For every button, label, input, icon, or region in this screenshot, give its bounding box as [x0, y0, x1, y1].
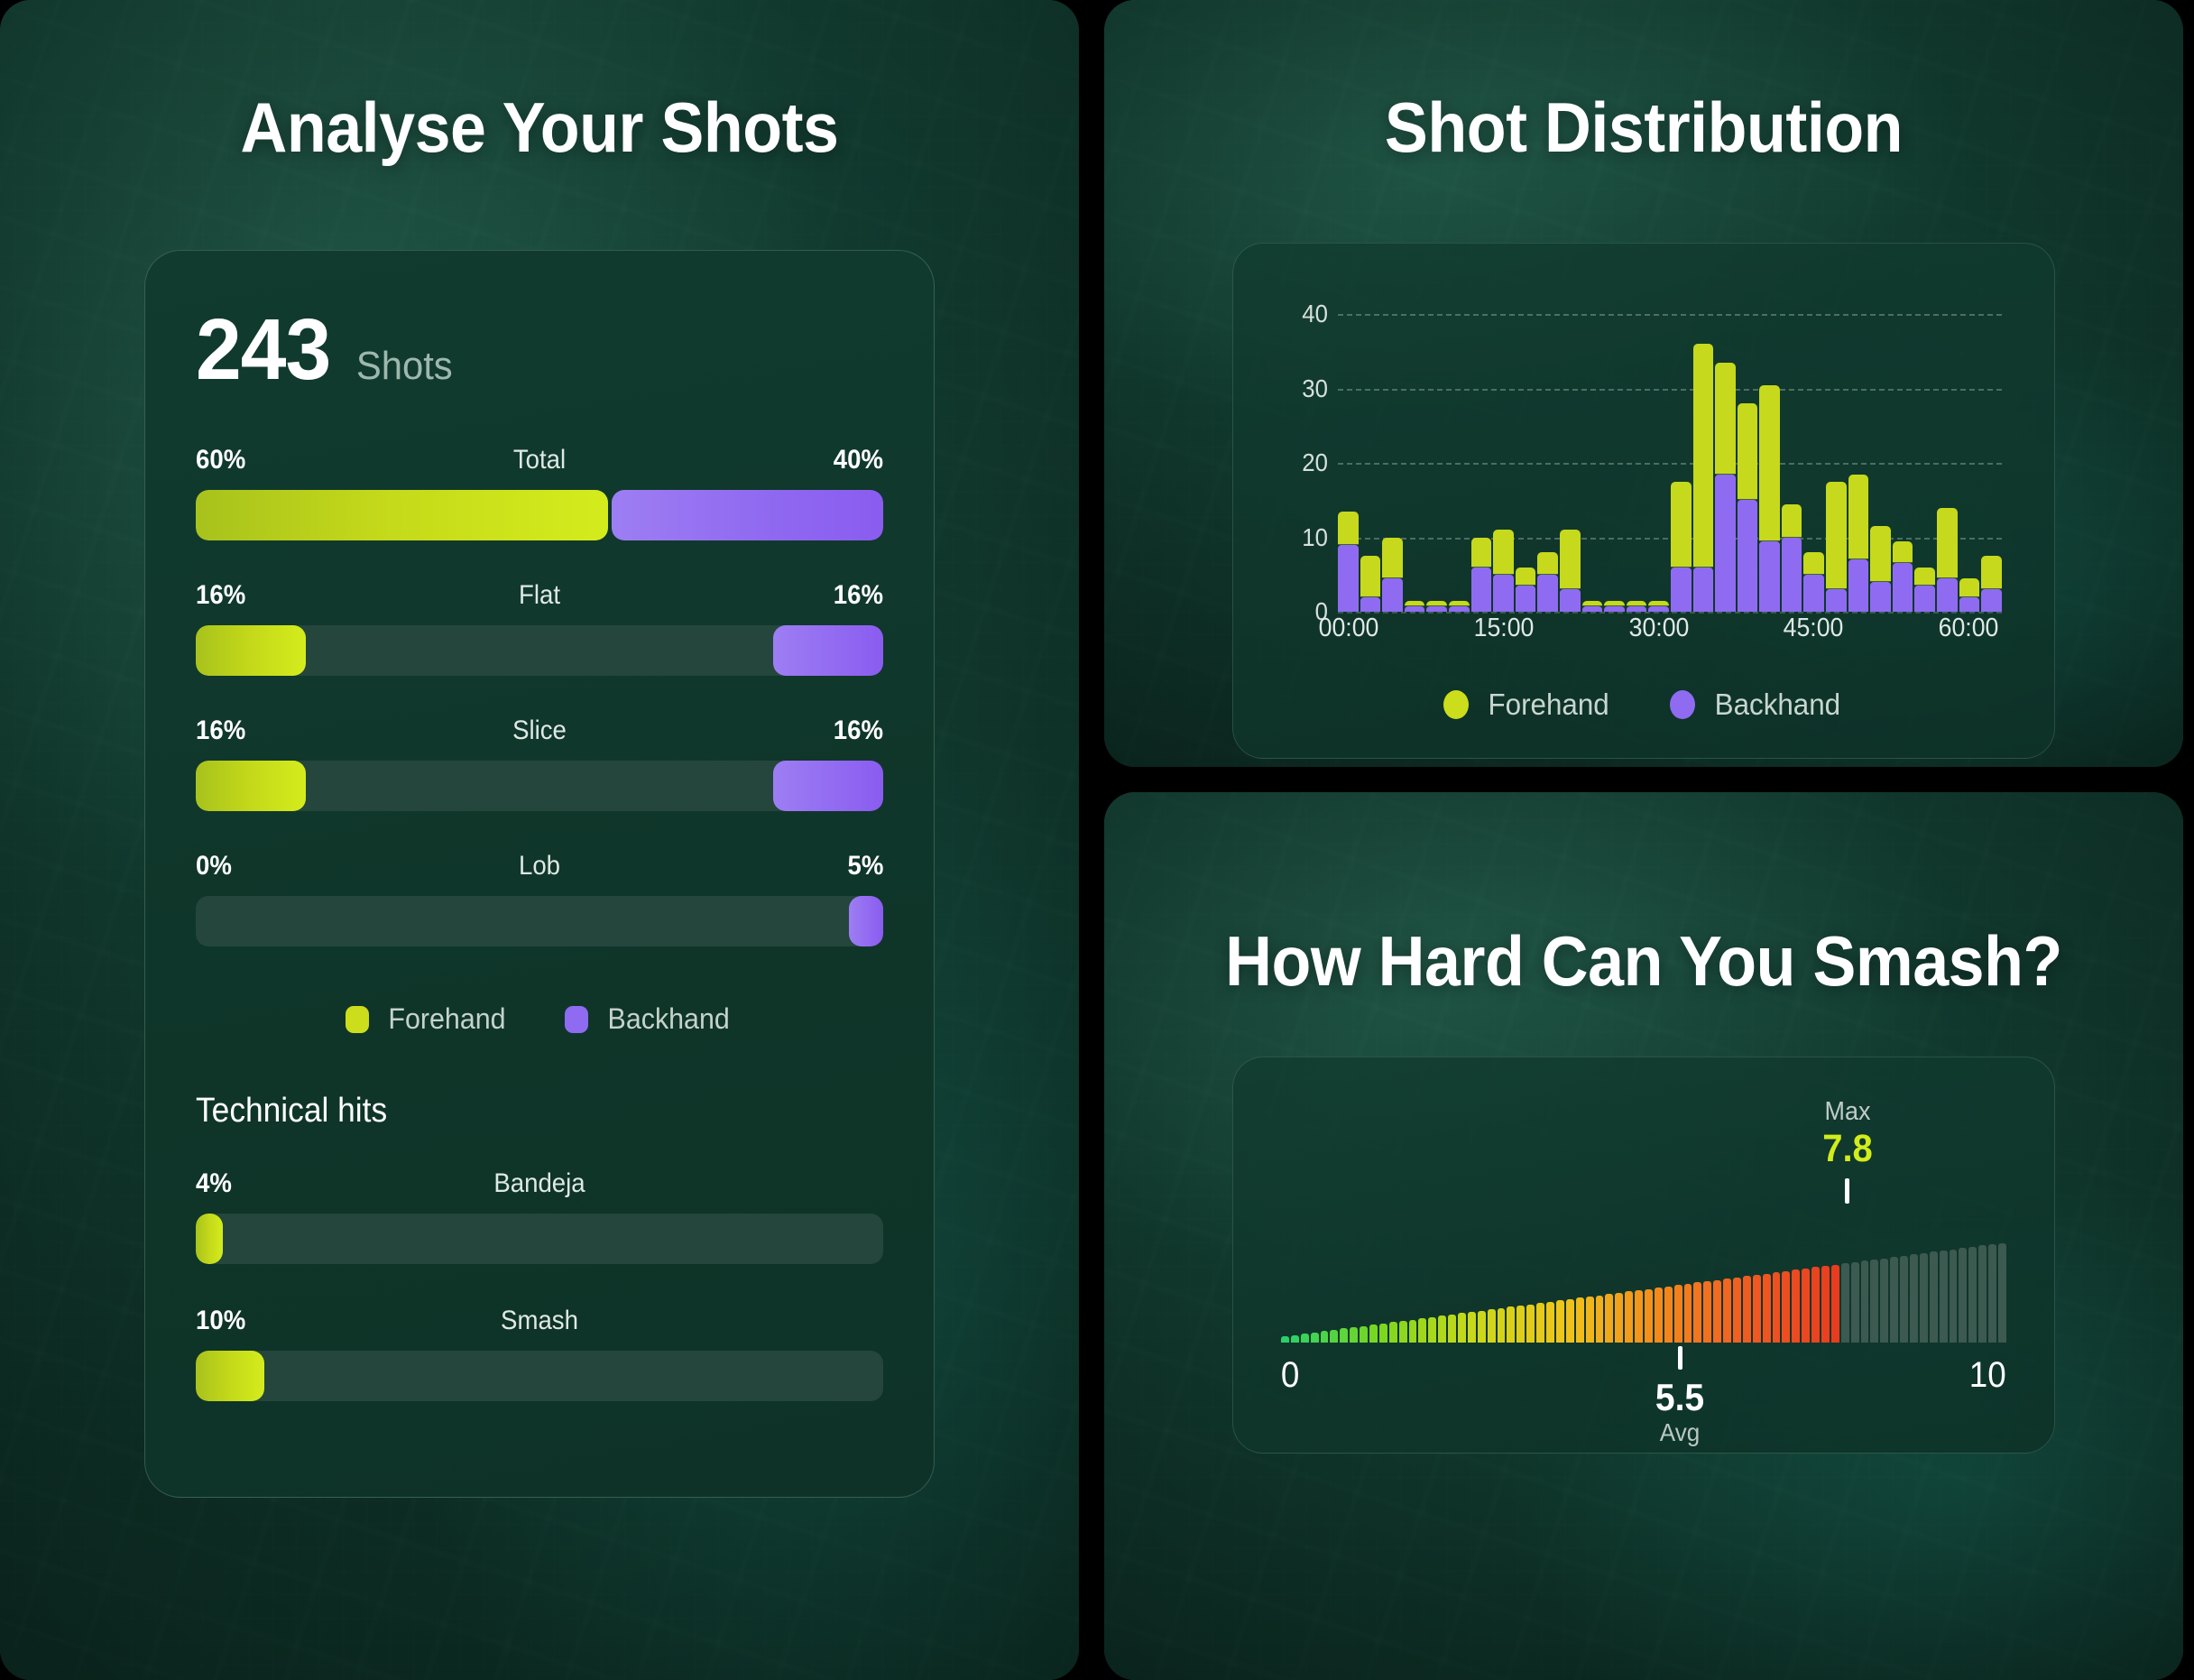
smash-power-panel: How Hard Can You Smash? Max 7.8 0 10: [1104, 792, 2183, 1680]
avg-caption: Avg: [1596, 1418, 1764, 1447]
chart-x-axis: 00:0015:0030:0045:0060:00: [1338, 615, 2002, 660]
chart-bar-column: [1981, 300, 2002, 612]
legend-label: Forehand: [1489, 688, 1609, 722]
gauge-tick: [1968, 1247, 1977, 1343]
forehand-dot-icon: [1443, 690, 1469, 719]
backhand-bar-segment: [1893, 563, 1913, 612]
chart-bar-column: [1937, 300, 1958, 612]
shots-summary-card: 243 Shots 60% Total 40%: [144, 250, 935, 1498]
gauge-tick: [1516, 1306, 1525, 1343]
legend-item-forehand: Forehand: [1443, 688, 1612, 722]
gauge-tick: [1880, 1259, 1888, 1343]
chart-bar-column: [1870, 300, 1891, 612]
backhand-bar-segment: [1738, 500, 1758, 612]
gauge-tick: [1389, 1322, 1397, 1342]
shot-bar-slice-track[interactable]: [196, 761, 883, 811]
backhand-bar-segment: [1981, 589, 2002, 612]
smash-gauge[interactable]: Max 7.8 0 10 5.5 Avg: [1280, 1097, 2007, 1406]
gauge-tick: [1360, 1326, 1368, 1343]
gauge-tick: [1478, 1311, 1486, 1343]
backhand-bar-segment: [1471, 568, 1492, 612]
forehand-bar-segment: [1671, 482, 1692, 568]
gauge-tick: [1950, 1250, 1958, 1343]
chart-bars: [1338, 300, 2002, 612]
technical-bar-bandeja: 4% Bandeja: [196, 1167, 883, 1264]
backhand-bar-segment: [1516, 586, 1536, 612]
backhand-dot-icon: [1670, 690, 1695, 719]
shot-bar-total: 60% Total 40%: [196, 443, 883, 540]
forehand-bar-segment: [1759, 385, 1780, 541]
shot-bar-lob-header: 0% Lob 5%: [196, 849, 883, 883]
chart-bar-column: [1560, 300, 1581, 612]
gauge-tick: [1743, 1276, 1751, 1342]
gauge-tick: [1438, 1315, 1446, 1342]
forehand-bar-segment: [1715, 363, 1736, 475]
page-title-distribution: Shot Distribution: [1148, 0, 2140, 169]
gauge-tick: [1379, 1324, 1387, 1343]
gauge-tick: [1311, 1333, 1319, 1343]
forehand-fill: [196, 761, 306, 811]
shot-bar-flat: 16% Flat 16%: [196, 578, 883, 676]
gauge-tick: [1586, 1297, 1594, 1343]
shots-legend: Forehand Backhand: [196, 1002, 883, 1036]
forehand-bar-segment: [1338, 512, 1359, 545]
gauge-tick: [1782, 1271, 1790, 1343]
backhand-swatch-icon: [565, 1006, 588, 1033]
backhand-bar-segment: [1627, 606, 1647, 612]
scale-max-label: 10: [1968, 1357, 2005, 1393]
gauge-tick: [1920, 1253, 1928, 1343]
backhand-bar-segment: [1648, 606, 1669, 612]
shot-bar-label: Lob: [519, 849, 560, 883]
gauge-tick: [1988, 1244, 1996, 1343]
backhand-bar-segment: [1959, 597, 1980, 612]
gauge-tick: [1733, 1278, 1741, 1343]
backhand-bar-segment: [1759, 541, 1780, 612]
gauge-tick: [1910, 1254, 1918, 1342]
gauge-tick: [1664, 1287, 1673, 1343]
gauge-tick: [1998, 1243, 2006, 1343]
chart-bar-column: [1627, 300, 1647, 612]
forehand-bar-segment: [1560, 530, 1581, 589]
backhand-bar-segment: [1537, 575, 1558, 612]
technical-label: Bandeja: [493, 1167, 585, 1201]
y-tick-label: 20: [1302, 450, 1328, 475]
chart-legend: Forehand Backhand: [1269, 688, 2018, 731]
shot-bar-label: Flat: [519, 578, 560, 613]
technical-hits-heading: Technical hits: [196, 1092, 835, 1131]
gauge-tick: [1458, 1313, 1466, 1342]
backhand-pct: 40%: [834, 443, 883, 477]
backhand-bar-segment: [1382, 578, 1403, 612]
gauge-tick: [1693, 1282, 1701, 1342]
backhand-bar-segment: [1560, 589, 1581, 612]
x-tick-label: 45:00: [1784, 615, 1844, 642]
gauge-tick: [1655, 1288, 1663, 1342]
forehand-bar-segment: [1981, 556, 2002, 589]
page-title-smash: How Hard Can You Smash?: [1148, 792, 2140, 1002]
gauge-tick: [1841, 1263, 1849, 1342]
gauge-tick: [1596, 1296, 1604, 1343]
forehand-bar-segment: [1693, 344, 1714, 567]
forehand-bar-segment: [1471, 538, 1492, 568]
backhand-fill: [773, 761, 883, 811]
backhand-bar-segment: [1582, 606, 1603, 612]
forehand-bar-segment: [1914, 568, 1935, 586]
gauge-tick: [1301, 1334, 1309, 1342]
gauge-tick: [1792, 1269, 1800, 1342]
backhand-bar-segment: [1426, 606, 1447, 612]
shot-bar-lob-track[interactable]: [196, 896, 883, 946]
gauge-tick: [1488, 1309, 1496, 1342]
gauge-tick: [1566, 1299, 1574, 1343]
max-tick-icon: [1845, 1178, 1849, 1204]
shot-bar-flat-header: 16% Flat 16%: [196, 578, 883, 613]
forehand-bar-segment: [1959, 578, 1980, 597]
dashboard-stage: Analyse Your Shots 243 Shots 60% Total 4…: [0, 0, 2194, 1680]
gauge-tick: [1428, 1317, 1436, 1343]
x-tick-label: 60:00: [1939, 615, 1999, 642]
backhand-bar-segment: [1870, 582, 1891, 612]
gauge-tick: [1821, 1266, 1830, 1343]
gauge-tick: [1802, 1269, 1810, 1343]
technical-bar-bandeja-header: 4% Bandeja: [196, 1167, 883, 1201]
shot-bar-flat-track[interactable]: [196, 625, 883, 676]
gauge-tick: [1507, 1306, 1515, 1342]
chart-bar-column: [1803, 300, 1824, 612]
shot-bar-total-track[interactable]: [196, 490, 883, 540]
chart-bar-column: [1604, 300, 1625, 612]
chart-bar-column: [1782, 300, 1802, 612]
backhand-segment: [612, 490, 883, 540]
forehand-pct: 16%: [196, 714, 245, 748]
backhand-bar-segment: [1671, 568, 1692, 612]
technical-bar-smash-header: 10% Smash: [196, 1304, 883, 1338]
gauge-tick: [1684, 1284, 1692, 1343]
backhand-bar-segment: [1693, 568, 1714, 612]
backhand-bar-segment: [1914, 586, 1935, 612]
gauge-bars: [1280, 1243, 2007, 1343]
gauge-tick: [1399, 1321, 1407, 1343]
analyse-your-shots-panel: Analyse Your Shots 243 Shots 60% Total 4…: [0, 0, 1079, 1680]
chart-bar-column: [1848, 300, 1869, 612]
shot-bar-label: Total: [513, 443, 566, 477]
scale-min-label: 0: [1281, 1357, 1299, 1393]
forehand-bar-segment: [1516, 568, 1536, 586]
gauge-tick: [1674, 1285, 1682, 1342]
legend-label: Forehand: [389, 1002, 506, 1036]
total-shots-value: 243: [196, 309, 330, 391]
gauge-tick: [1409, 1320, 1417, 1343]
shot-distribution-panel: Shot Distribution 010203040 00:0015:0030…: [1104, 0, 2183, 767]
gauge-tick: [1773, 1272, 1781, 1342]
chart-bar-column: [1471, 300, 1492, 612]
backhand-bar-segment: [1848, 559, 1869, 612]
backhand-bar-segment: [1782, 538, 1802, 612]
chart-y-axis: 010203040: [1286, 300, 1338, 612]
chart-bar-column: [1493, 300, 1514, 612]
forehand-bar-segment: [1493, 530, 1514, 574]
chart-bar-column: [1715, 300, 1736, 612]
gauge-tick: [1468, 1312, 1476, 1343]
gauge-tick: [1556, 1300, 1564, 1342]
smash-fill: [196, 1351, 264, 1401]
forehand-fill: [196, 625, 306, 676]
forehand-bar-segment: [1537, 552, 1558, 575]
chart-bar-column: [1360, 300, 1381, 612]
chart-bar-column: [1759, 300, 1780, 612]
backhand-bar-segment: [1493, 575, 1514, 612]
avg-tick-icon: [1678, 1346, 1682, 1370]
x-tick-label: 00:00: [1319, 615, 1379, 642]
forehand-bar-segment: [1937, 508, 1958, 578]
backhand-bar-segment: [1937, 578, 1958, 612]
backhand-bar-segment: [1360, 597, 1381, 612]
technical-bar-smash-track[interactable]: [196, 1351, 883, 1401]
gauge-tick: [1321, 1331, 1329, 1342]
backhand-fill: [849, 896, 883, 946]
shot-bar-label: Slice: [512, 714, 567, 748]
gauge-tick: [1615, 1293, 1623, 1343]
forehand-swatch-icon: [346, 1006, 369, 1033]
gauge-tick: [1811, 1267, 1820, 1342]
backhand-bar-segment: [1449, 606, 1470, 612]
gauge-tick: [1930, 1251, 1938, 1342]
gauge-tick: [1900, 1256, 1908, 1343]
technical-bar-bandeja-track[interactable]: [196, 1214, 883, 1264]
gauge-tick: [1330, 1330, 1338, 1343]
technical-bar-smash: 10% Smash: [196, 1304, 883, 1401]
forehand-bar-segment: [1826, 482, 1847, 589]
shot-bar-slice-header: 16% Slice 16%: [196, 714, 883, 748]
shot-bar-slice: 16% Slice 16%: [196, 714, 883, 811]
forehand-pct: 16%: [196, 578, 245, 613]
backhand-bar-segment: [1604, 606, 1625, 612]
backhand-pct: 5%: [847, 849, 883, 883]
gauge-tick: [1281, 1336, 1289, 1343]
x-tick-label: 15:00: [1474, 615, 1535, 642]
gauge-tick: [1340, 1328, 1348, 1342]
legend-label: Backhand: [1715, 688, 1840, 722]
y-tick-label: 40: [1302, 301, 1328, 327]
avg-value: 5.5: [1596, 1377, 1764, 1418]
gauge-tick: [1940, 1251, 1948, 1343]
max-marker: Max 7.8: [1766, 1097, 1929, 1204]
gauge-tick: [1546, 1302, 1554, 1343]
gauge-tick: [1291, 1335, 1299, 1343]
gauge-tick: [1635, 1290, 1643, 1343]
gauge-tick: [1369, 1325, 1378, 1342]
gauge-tick: [1625, 1291, 1633, 1342]
y-tick-label: 10: [1302, 525, 1328, 550]
backhand-pct: 16%: [834, 714, 883, 748]
gauge-tick: [1870, 1260, 1878, 1343]
technical-pct: 4%: [196, 1167, 232, 1201]
chart-bar-column: [1648, 300, 1669, 612]
chart-bar-column: [1516, 300, 1536, 612]
forehand-bar-segment: [1870, 526, 1891, 582]
gauge-tick: [1605, 1294, 1613, 1342]
total-shots-unit: Shots: [356, 344, 453, 389]
gauge-tick: [1536, 1303, 1544, 1342]
legend-item-forehand: Forehand: [346, 1002, 509, 1036]
gauge-tick: [1753, 1275, 1761, 1343]
chart-bar-column: [1826, 300, 1847, 612]
gauge-tick: [1723, 1278, 1731, 1342]
chart-bar-column: [1693, 300, 1714, 612]
gauge-tick: [1418, 1318, 1426, 1342]
forehand-bar-segment: [1382, 538, 1403, 578]
gauge-tick: [1851, 1262, 1859, 1343]
chart-bar-column: [1426, 300, 1447, 612]
chart-bar-column: [1338, 300, 1359, 612]
gauge-tick: [1978, 1245, 1987, 1342]
shot-bar-total-header: 60% Total 40%: [196, 443, 883, 477]
legend-item-backhand: Backhand: [1670, 688, 1844, 722]
technical-pct: 10%: [196, 1304, 245, 1338]
gauge-tick: [1703, 1281, 1711, 1343]
backhand-bar-segment: [1826, 589, 1847, 612]
forehand-bar-segment: [1803, 552, 1824, 575]
smash-gauge-card: Max 7.8 0 10 5.5 Avg: [1232, 1057, 2055, 1454]
forehand-pct: 0%: [196, 849, 232, 883]
chart-bar-column: [1738, 300, 1758, 612]
gauge-tick: [1576, 1297, 1584, 1342]
gauge-tick: [1959, 1248, 1967, 1342]
gauge-axis: 0 10 5.5 Avg: [1280, 1357, 2007, 1406]
avg-marker: 5.5 Avg: [1590, 1346, 1770, 1447]
chart-bar-column: [1405, 300, 1425, 612]
page-title-analyse: Analyse Your Shots: [176, 0, 903, 169]
forehand-pct: 60%: [196, 443, 245, 477]
gauge-tick: [1713, 1280, 1721, 1343]
gauge-tick: [1861, 1260, 1869, 1342]
y-tick-label: 30: [1302, 376, 1328, 402]
legend-label: Backhand: [608, 1002, 730, 1036]
chart-bar-column: [1382, 300, 1403, 612]
max-caption: Max: [1772, 1097, 1922, 1127]
backhand-pct: 16%: [834, 578, 883, 613]
chart-bar-column: [1914, 300, 1935, 612]
forehand-bar-segment: [1782, 504, 1802, 538]
backhand-bar-segment: [1803, 575, 1824, 612]
total-shots-row: 243 Shots: [196, 309, 883, 391]
legend-item-backhand: Backhand: [565, 1002, 733, 1036]
gauge-tick: [1645, 1289, 1653, 1343]
forehand-segment: [196, 490, 608, 540]
backhand-bar-segment: [1338, 545, 1359, 612]
x-tick-label: 30:00: [1628, 615, 1689, 642]
bandeja-fill: [196, 1214, 223, 1264]
chart-bar-column: [1893, 300, 1913, 612]
gauge-tick: [1498, 1308, 1506, 1343]
max-value: 7.8: [1772, 1127, 1922, 1171]
backhand-fill: [773, 625, 883, 676]
backhand-bar-segment: [1715, 475, 1736, 612]
technical-label: Smash: [501, 1304, 578, 1338]
forehand-bar-segment: [1848, 475, 1869, 560]
chart-bar-column: [1582, 300, 1603, 612]
gauge-tick: [1526, 1305, 1535, 1343]
chart-bar-column: [1671, 300, 1692, 612]
forehand-bar-segment: [1893, 541, 1913, 564]
forehand-bar-segment: [1360, 556, 1381, 596]
gauge-tick: [1350, 1327, 1358, 1343]
chart-bar-column: [1537, 300, 1558, 612]
gauge-tick: [1831, 1265, 1839, 1343]
forehand-bar-segment: [1738, 403, 1758, 500]
backhand-bar-segment: [1405, 606, 1425, 612]
chart-bar-column: [1959, 300, 1980, 612]
right-column: Shot Distribution 010203040 00:0015:0030…: [1104, 0, 2183, 1680]
chart-plot-area: [1338, 300, 2002, 612]
gauge-tick: [1890, 1257, 1898, 1342]
chart-bar-column: [1449, 300, 1470, 612]
shot-bar-lob: 0% Lob 5%: [196, 849, 883, 946]
shot-distribution-chart[interactable]: 010203040 00:0015:0030:0045:0060:00: [1286, 300, 2002, 660]
gauge-tick: [1763, 1274, 1771, 1343]
distribution-chart-card: 010203040 00:0015:0030:0045:0060:00 Fore…: [1232, 243, 2055, 759]
gauge-tick: [1448, 1315, 1456, 1343]
